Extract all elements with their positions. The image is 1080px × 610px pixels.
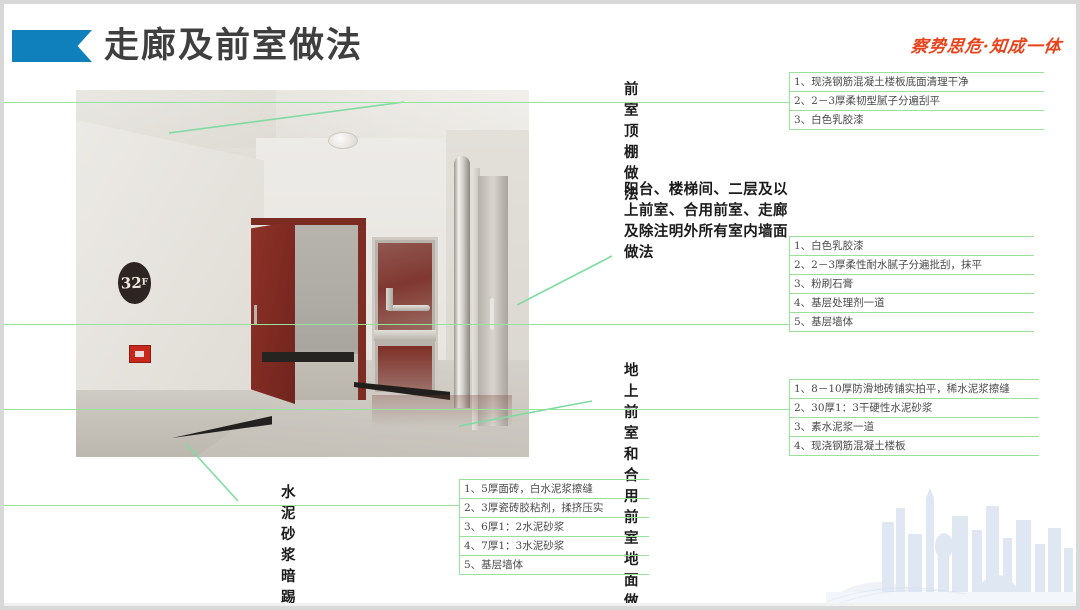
callout-ceiling-spec-list: 1、现浇钢筋混凝土楼板底面清理干净 2、2－3厚柔韧型腻子分遍刮平 3、白色乳胶… bbox=[789, 72, 1044, 130]
smoke-detector-icon bbox=[328, 132, 358, 149]
spec-item: 4、现浇钢筋混凝土楼板 bbox=[789, 437, 1039, 456]
photo-red-door-handle bbox=[254, 305, 257, 325]
fire-alarm-box-icon bbox=[129, 345, 151, 363]
callout-interior-wall-spec-list: 1、白色乳胶漆 2、2－3厚柔性耐水腻子分遍批刮，抹平 3、粉刷石膏 4、基层处… bbox=[789, 236, 1034, 332]
slide-canvas: 走廊及前室做法 察势思危·知成一体 32F bbox=[4, 4, 1076, 606]
floor-number-value: 32 bbox=[121, 274, 142, 293]
header-banner-shape bbox=[12, 30, 92, 62]
spec-item: 3、素水泥浆一道 bbox=[789, 418, 1039, 437]
photo-door-frame-top bbox=[251, 218, 366, 225]
spec-item: 3、6厚1：2水泥砂浆 bbox=[459, 518, 649, 537]
brand-slogan: 察势思危·知成一体 bbox=[910, 32, 1064, 57]
photo-steel-pipe-column bbox=[454, 156, 470, 408]
photo-glass-panel-lower bbox=[378, 346, 432, 390]
corridor-photo: 32F bbox=[76, 90, 529, 457]
spec-item: 2、2－3厚柔性耐水腻子分遍批刮，抹平 bbox=[789, 256, 1034, 275]
page-title: 走廊及前室做法 bbox=[104, 22, 363, 70]
spec-item: 5、基层墙体 bbox=[459, 556, 649, 575]
spec-item: 4、基层处理剂一道 bbox=[789, 294, 1034, 313]
callout-skirting-spec-list: 1、5厚面砖，白水泥浆擦缝 2、3厚瓷砖胶粘剂，揉挤压实 3、6厚1：2水泥砂浆… bbox=[459, 479, 649, 575]
floor-number-suffix: F bbox=[142, 278, 149, 288]
photo-red-door bbox=[251, 221, 295, 404]
photo-door-frame-right bbox=[358, 218, 366, 400]
spec-item: 2、3厚瓷砖胶粘剂，揉挤压实 bbox=[459, 499, 649, 518]
callout-floor-spec-list: 1、8－10厚防滑地砖铺实拍平，稀水泥浆擦缝 2、30厚1：3干硬性水泥砂浆 3… bbox=[789, 379, 1039, 456]
photo-glass-door-rail bbox=[374, 330, 436, 341]
spec-item: 1、现浇钢筋混凝土楼板底面清理干净 bbox=[789, 73, 1044, 92]
spec-item: 5、基层墙体 bbox=[789, 313, 1034, 332]
callout-skirting-underline bbox=[4, 505, 459, 506]
spec-item: 3、白色乳胶漆 bbox=[789, 111, 1044, 130]
spec-item: 2、30厚1：3干硬性水泥砂浆 bbox=[789, 399, 1039, 418]
spec-item: 4、7厚1：3水泥砂浆 bbox=[459, 537, 649, 556]
callout-skirting-label: 水泥砂浆暗踢脚做法 bbox=[281, 483, 296, 606]
spec-item: 1、白色乳胶漆 bbox=[789, 237, 1034, 256]
callout-floor-underline bbox=[4, 409, 789, 410]
spec-item: 2、2－3厚柔韧型腻子分遍刮平 bbox=[789, 92, 1044, 111]
spec-item: 1、8－10厚防滑地砖铺实拍平，稀水泥浆擦缝 bbox=[789, 380, 1039, 399]
spec-item: 3、粉刷石膏 bbox=[789, 275, 1034, 294]
footer-rule bbox=[4, 603, 1076, 606]
callout-ceiling-underline bbox=[4, 102, 789, 103]
city-skyline-watermark-icon bbox=[826, 486, 1076, 606]
photo-right-door-handle bbox=[490, 298, 494, 330]
leader-line-wall bbox=[517, 256, 612, 305]
photo-floor-reflection bbox=[372, 395, 512, 427]
callout-interior-wall-label: 阳台、楼梯间、二层及以上前室、合用前室、走廊及除注明外所有室内墙面做法 bbox=[624, 180, 794, 264]
photo-door-pull-bend bbox=[386, 288, 393, 310]
callout-interior-wall-underline bbox=[4, 324, 789, 325]
photo-baseboard-back bbox=[262, 352, 354, 362]
spec-item: 1、5厚面砖，白水泥浆擦缝 bbox=[459, 480, 649, 499]
